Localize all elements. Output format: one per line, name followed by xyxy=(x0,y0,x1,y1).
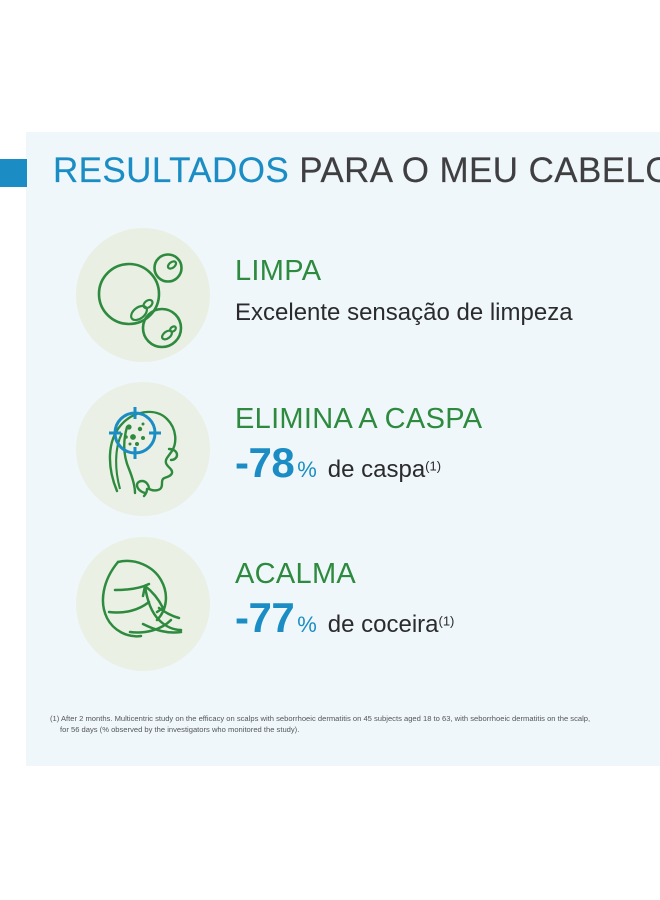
accent-square xyxy=(0,159,27,187)
benefit-row: ELIMINA A CASPA -78%de caspa(1) xyxy=(76,382,636,522)
benefit-row: LIMPA Excelente sensação de limpeza xyxy=(76,228,636,368)
stat-label: de caspa xyxy=(317,456,425,483)
benefit-text: LIMPA Excelente sensação de limpeza xyxy=(235,238,635,330)
footnote-line-1: (1) After 2 months. Multicentric study o… xyxy=(50,714,630,725)
head-target-icon xyxy=(76,382,210,516)
stat-percent: % xyxy=(294,612,317,637)
benefit-stat: -77%de coceira(1) xyxy=(235,595,635,641)
benefit-title: ACALMA xyxy=(235,556,635,592)
page-title-highlight: RESULTADOS xyxy=(53,151,289,190)
benefit-text: ACALMA -77%de coceira(1) xyxy=(235,547,635,641)
benefit-stat: -78%de caspa(1) xyxy=(235,440,635,486)
benefit-title: ELIMINA A CASPA xyxy=(235,401,635,437)
stat-label: de coceira xyxy=(317,611,439,638)
page-title-rest: PARA O MEU CABELO xyxy=(289,151,660,190)
footnote: (1) After 2 months. Multicentric study o… xyxy=(50,714,630,735)
stat-footnote-marker: (1) xyxy=(425,459,441,474)
stat-value: -78 xyxy=(235,439,294,486)
stat-value: -77 xyxy=(235,594,294,641)
stat-footnote-marker: (1) xyxy=(439,614,455,629)
promo-page: RESULTADOS PARA O MEU CABELO LIMPA xyxy=(0,0,660,900)
page-title: RESULTADOS PARA O MEU CABELO xyxy=(53,149,660,193)
benefit-row: ACALMA -77%de coceira(1) xyxy=(76,537,636,677)
bubbles-icon xyxy=(76,228,210,362)
feather-leaf-icon xyxy=(76,537,210,671)
footnote-line-2: for 56 days (% observed by the investiga… xyxy=(50,725,630,736)
stat-percent: % xyxy=(294,457,317,482)
benefit-text: ELIMINA A CASPA -78%de caspa(1) xyxy=(235,392,635,486)
benefit-title: LIMPA xyxy=(235,253,635,289)
benefit-description: Excelente sensação de limpeza xyxy=(235,296,635,330)
